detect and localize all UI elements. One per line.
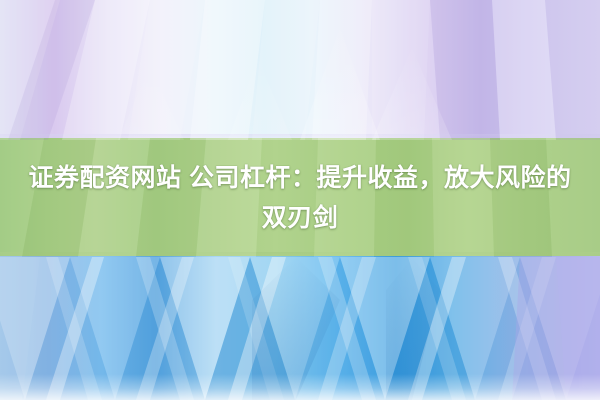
decorative-title-banner: 证券配资网站 公司杠杆：提升收益，放大风险的双刃剑 bbox=[0, 0, 600, 400]
bottom-blue-zone bbox=[0, 256, 600, 400]
top-pastel-zone bbox=[0, 0, 600, 140]
banner-headline: 证券配资网站 公司杠杆：提升收益，放大风险的双刃剑 bbox=[0, 138, 600, 257]
headline-text: 证券配资网站 公司杠杆：提升收益，放大风险的双刃剑 bbox=[20, 158, 580, 238]
